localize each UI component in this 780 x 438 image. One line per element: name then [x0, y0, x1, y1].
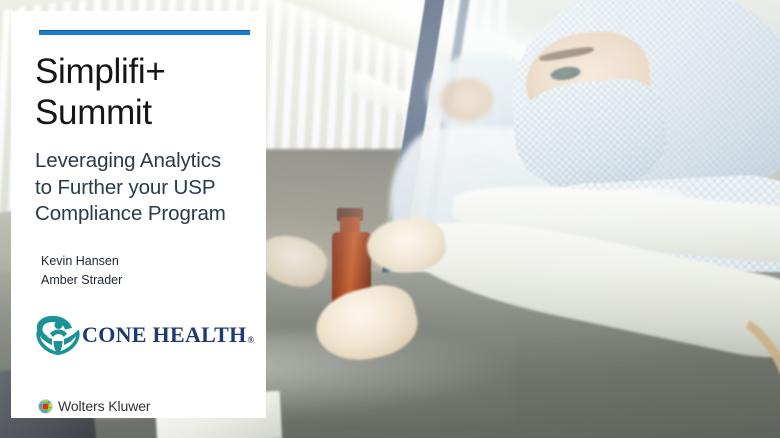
cone-health-logo: CONE HEALTH® — [35, 314, 255, 356]
wolters-kluwer-logo: Wolters Kluwer — [38, 398, 150, 414]
cone-health-wordmark: CONE HEALTH® — [82, 322, 255, 348]
background-technician-face — [440, 78, 493, 120]
presentation-slide: Simplifi+ Summit Leveraging Analytics to… — [0, 0, 780, 438]
slide-title-line-2: Summit — [35, 92, 260, 133]
cone-health-registered-mark: ® — [247, 335, 254, 345]
accent-rule — [39, 30, 250, 35]
presenter-list: Kevin Hansen Amber Strader — [41, 252, 122, 290]
slide-title-line-1: Simplifi+ — [35, 51, 260, 92]
title-card: Simplifi+ Summit Leveraging Analytics to… — [11, 11, 266, 418]
cone-health-wordmark-text: CONE HEALTH — [82, 322, 246, 347]
slide-subtitle: Leveraging Analytics to Further your USP… — [35, 148, 263, 228]
presenter-name-2: Amber Strader — [41, 271, 122, 290]
slide-title: Simplifi+ Summit — [35, 51, 260, 133]
slide-subtitle-line-1: Leveraging Analytics — [35, 148, 263, 175]
presenter-name-1: Kevin Hansen — [41, 252, 122, 271]
cone-health-emblem-icon — [35, 314, 81, 356]
wolters-kluwer-wordmark: Wolters Kluwer — [58, 398, 150, 414]
slide-subtitle-line-2: to Further your USP — [35, 175, 263, 202]
slide-subtitle-line-3: Compliance Program — [35, 201, 263, 228]
wolters-kluwer-globe-icon — [38, 399, 53, 414]
